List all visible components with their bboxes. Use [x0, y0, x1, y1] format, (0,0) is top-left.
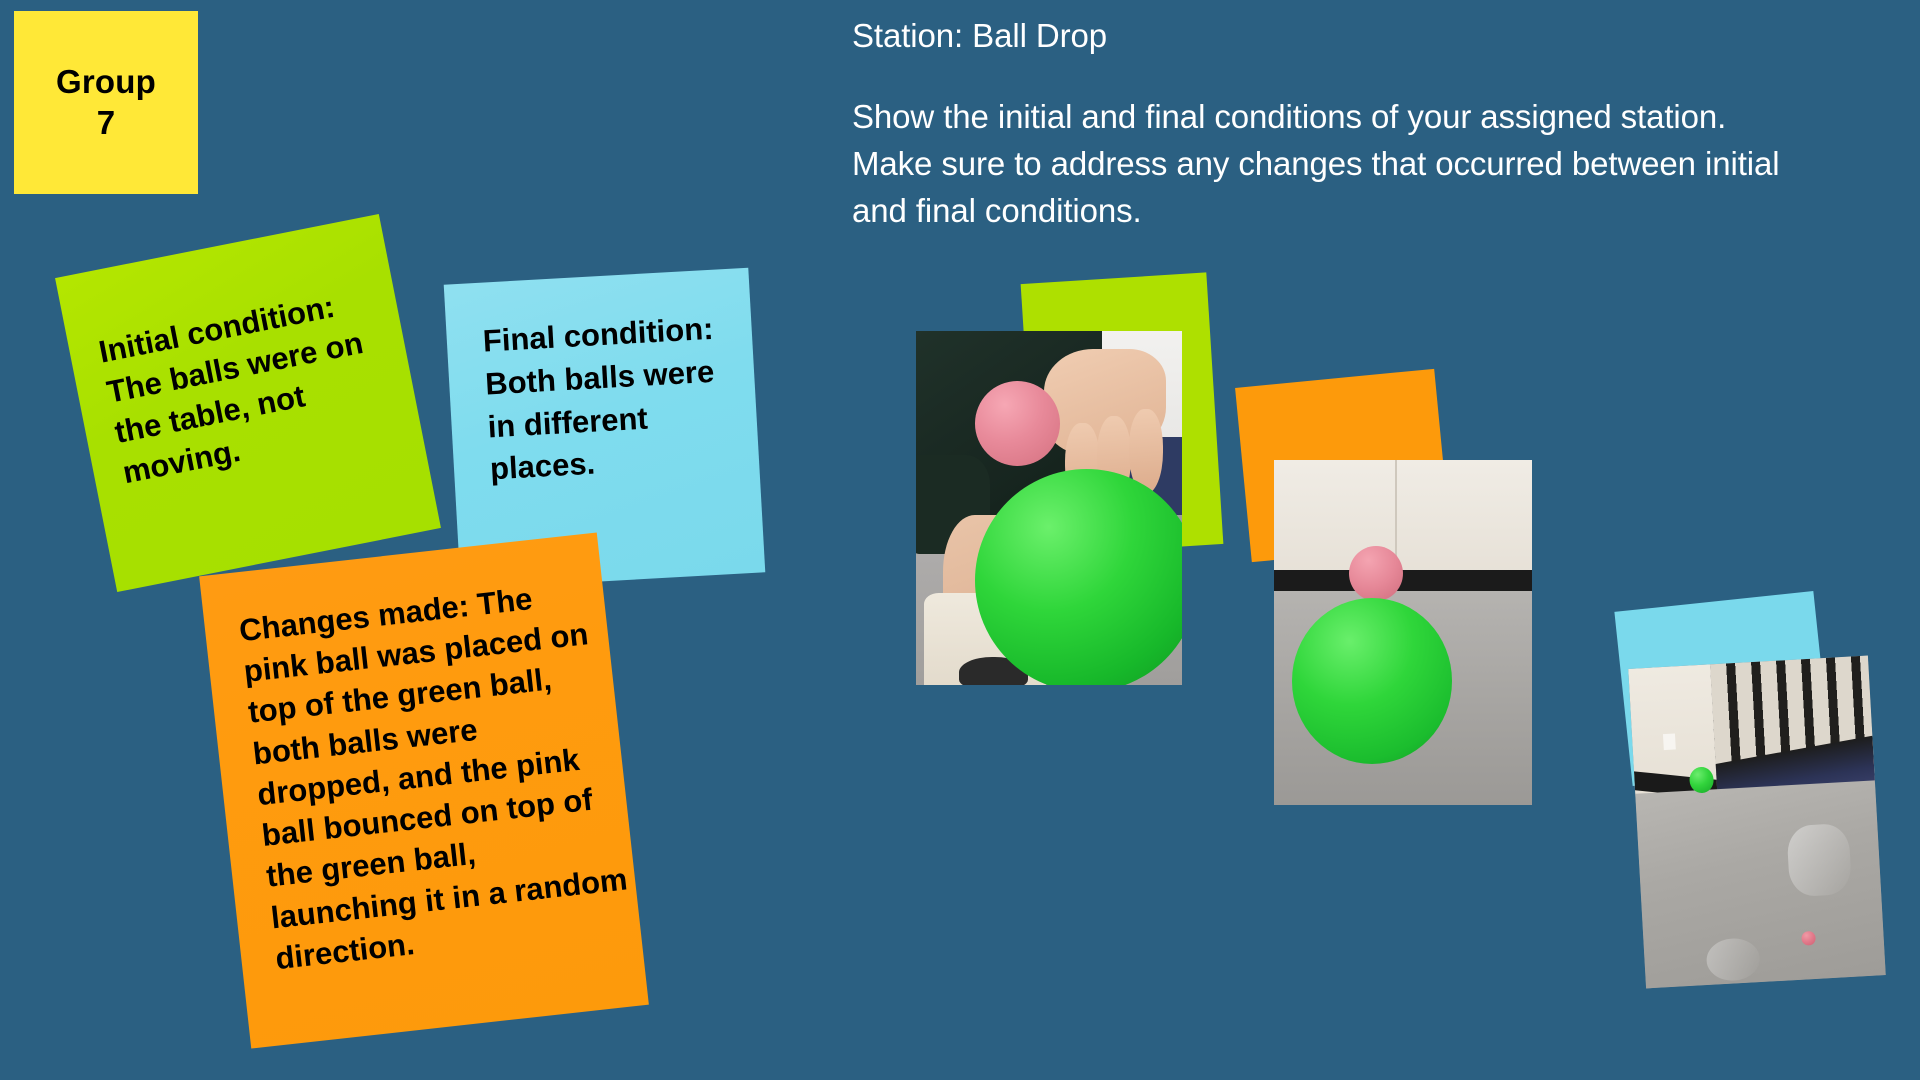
- final-condition-text: Final condition: Both balls were in diff…: [444, 268, 760, 494]
- photo-balls-stacked: [1274, 460, 1532, 805]
- photo3-floor-sheen-1: [1786, 823, 1852, 897]
- group-number-label: Group 7: [56, 62, 156, 143]
- slide-canvas: Group 7 Station: Ball Drop Show the init…: [0, 0, 1920, 1080]
- sticky-note-initial-condition: Initial condition: The balls were on the…: [55, 214, 441, 592]
- photo3-light-switch: [1663, 734, 1676, 751]
- group-number-note: Group 7: [14, 11, 198, 194]
- initial-condition-text: Initial condition: The balls were on the…: [55, 214, 423, 499]
- photo-balls-separated: [1628, 656, 1885, 989]
- photo3-pink-ball: [1802, 931, 1816, 946]
- station-title: Station: Ball Drop: [852, 14, 1812, 58]
- header-spacer: [852, 58, 1812, 94]
- sticky-note-final-condition: Final condition: Both balls were in diff…: [444, 268, 766, 590]
- sticky-note-changes-made: Changes made: The pink ball was placed o…: [199, 532, 649, 1048]
- header-text-block: Station: Ball Drop Show the initial and …: [852, 14, 1812, 234]
- photo2-cabinet-wall: [1274, 460, 1532, 584]
- instruction-text: Show the initial and final conditions of…: [852, 94, 1812, 235]
- photo2-pink-ball: [1349, 546, 1403, 601]
- photo-holding-balls: [916, 331, 1182, 685]
- changes-made-text: Changes made: The pink ball was placed o…: [199, 532, 641, 982]
- photo2-green-ball: [1292, 598, 1452, 764]
- photo2-baseboard: [1274, 570, 1532, 591]
- photo3-floor: [1635, 780, 1886, 988]
- photo1-pink-ball: [975, 381, 1060, 466]
